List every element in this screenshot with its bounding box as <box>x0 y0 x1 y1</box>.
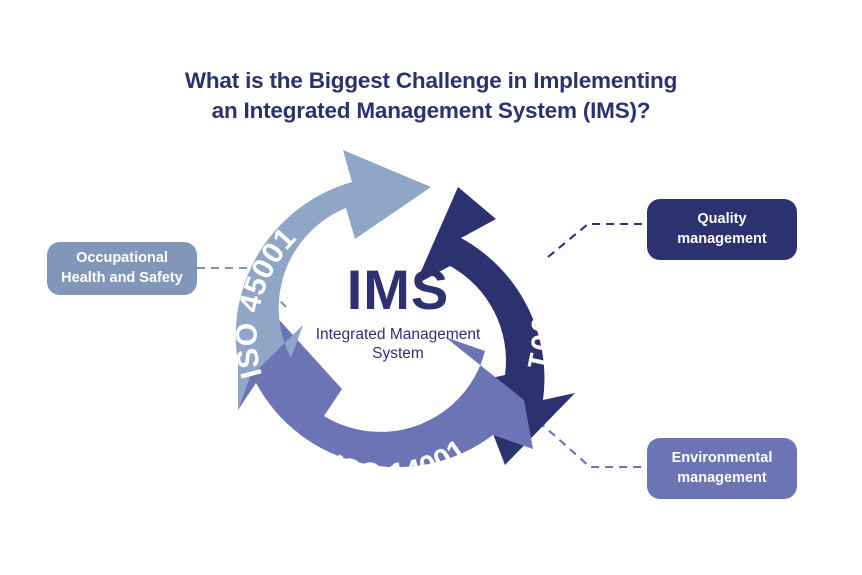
chip-ohs-line-1: Occupational <box>61 249 183 268</box>
chip-environmental-line-2: management <box>672 469 773 488</box>
chip-quality-management[interactable]: Quality management <box>647 199 797 260</box>
chip-occupational-health-and-safety[interactable]: Occupational Health and Safety <box>47 242 197 295</box>
ring-segment-iso-45001[interactable]: ISO 45001 <box>230 150 431 410</box>
chip-quality-line-1: Quality <box>677 210 766 229</box>
connector-quality-management <box>548 224 647 257</box>
chip-environmental-line-1: Environmental <box>672 449 773 468</box>
infographic-canvas: What is the Biggest Challenge in Impleme… <box>0 0 862 575</box>
chip-environmental-management[interactable]: Environmental management <box>647 438 797 499</box>
chip-quality-line-2: management <box>677 230 766 249</box>
chip-ohs-line-2: Health and Safety <box>61 269 183 288</box>
